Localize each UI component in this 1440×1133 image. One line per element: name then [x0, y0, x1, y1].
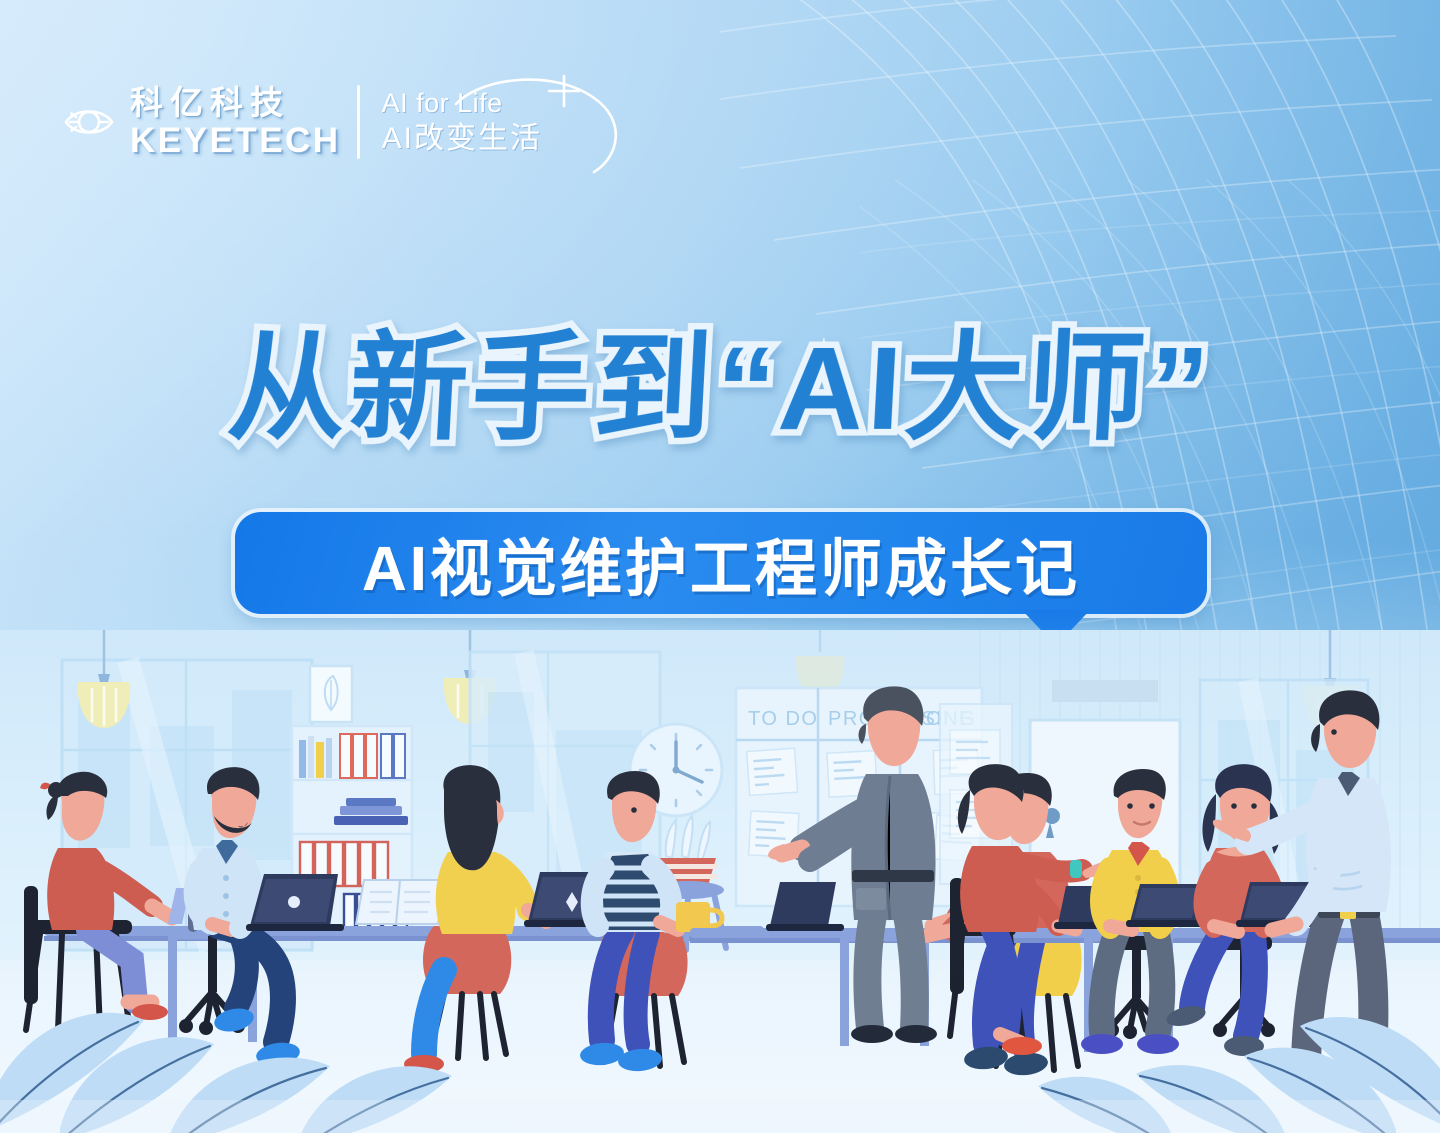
open-laptop-display [356, 880, 444, 924]
framed-leaf-picture [310, 666, 352, 722]
brand-wordmark: 科亿科技 KEYETECH [130, 84, 341, 159]
subtitle-text: AI视觉维护工程师成长记 [362, 518, 1080, 608]
svg-text:TO DO: TO DO [748, 708, 818, 730]
eye-lens-icon [62, 100, 116, 144]
slogan-cn: AI改变生活 [382, 121, 542, 158]
brand-name-cn: 科亿科技 [130, 84, 341, 122]
page-title: 从新手到“AI大师” [0, 330, 1440, 448]
subtitle-banner: AI视觉维护工程师成长记 [235, 512, 1207, 614]
brand-slogan: AI for Life AI改变生活 [382, 86, 542, 158]
slogan-en: AI for Life [382, 86, 542, 121]
brand-name-en: KEYETECH [130, 123, 341, 160]
brand-logo-bar: 科亿科技 KEYETECH AI for Life AI改变生活 [62, 74, 542, 170]
logo-divider [357, 85, 360, 159]
poster-canvas: 科亿科技 KEYETECH AI for Life AI改变生活 从新手到“AI… [0, 0, 1440, 1133]
office-team-illustration: TO DO PROCESSING DONE [0, 630, 1440, 1133]
